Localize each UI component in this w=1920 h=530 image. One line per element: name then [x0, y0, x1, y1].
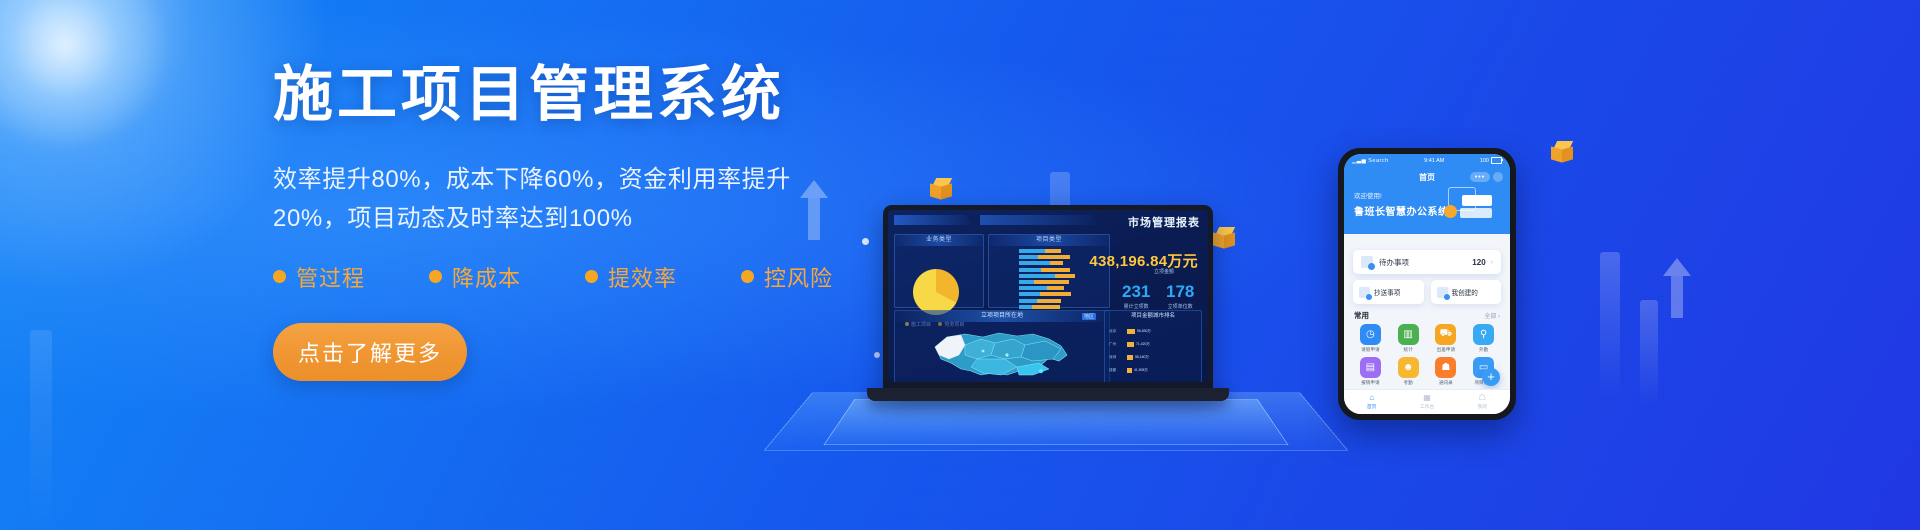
- travel-request-icon: ⛟: [1435, 324, 1456, 345]
- page-title: 施工项目管理系统: [273, 62, 893, 129]
- app-header-title: 首页: [1419, 172, 1435, 183]
- feature-bullet: 控风险: [741, 261, 833, 293]
- kpi-caption: 累计立项数: [1122, 303, 1150, 310]
- total-amount-value: 438,196.84万元: [1089, 250, 1198, 271]
- quick-card-cc[interactable]: 抄送事项: [1353, 280, 1424, 304]
- created-icon: [1437, 287, 1448, 298]
- status-time: 9:41 AM: [1424, 158, 1444, 164]
- bullet-label: 控风险: [764, 261, 833, 293]
- banner-subtitle: 效率提升80%，成本下降60%，资金利用率提升20%，项目动态及时率达到100%: [273, 161, 793, 239]
- quick-card-label: 我创建的: [1452, 287, 1478, 297]
- corner-glow: [0, 0, 170, 145]
- app-label: 报销申请: [1361, 380, 1379, 386]
- app-label: 考勤: [1404, 380, 1413, 386]
- decor-arrow-up: [1663, 258, 1691, 318]
- bullet-dot-icon: [741, 270, 754, 283]
- bullet-label: 降成本: [452, 261, 521, 293]
- laptop-mockup: 市场管理报表 业务类型 施工项目 劳务项目 项目类型: [883, 205, 1213, 390]
- workbench-icon: ▦: [1423, 394, 1431, 402]
- app-tile[interactable]: ☗ 通讯录: [1429, 357, 1464, 386]
- china-map: [921, 325, 1081, 381]
- rank-value: 96,830万: [1137, 329, 1151, 334]
- attendance-icon: ☻: [1398, 357, 1419, 378]
- quick-cards: 抄送事项 我创建的: [1353, 280, 1501, 304]
- app-tile[interactable]: ⛟ 出差申请: [1429, 324, 1464, 353]
- rank-label: 成都: [1109, 368, 1125, 373]
- banner-copy: 施工项目管理系统 效率提升80%，成本下降60%，资金利用率提升20%，项目动态…: [273, 62, 893, 381]
- dashboard-title: 市场管理报表: [1128, 214, 1200, 230]
- laptop-screen: 市场管理报表 业务类型 施工项目 劳务项目 项目类型: [883, 205, 1213, 390]
- rank-value: 71,420万: [1136, 342, 1150, 347]
- total-amount-caption: 立项金额: [1154, 268, 1174, 275]
- bullet-dot-icon: [429, 270, 442, 283]
- panel-title: 项目金额城市排名: [1105, 311, 1201, 322]
- kpi-projects: 231 累计立项数: [1122, 282, 1150, 310]
- bullet-label: 提效率: [608, 261, 677, 293]
- field-work-icon: ⚲: [1473, 324, 1494, 345]
- panel-title: 业务类型: [895, 235, 983, 246]
- app-grid: ◷ 请假申请 ▥ 统计 ⛟ 出差申请 ⚲ 外勤 ▤ 报销申请: [1353, 324, 1501, 386]
- bullet-dot-icon: [585, 270, 598, 283]
- header-accent-left: [894, 215, 972, 225]
- panel-business-type: 业务类型 施工项目 劳务项目: [894, 234, 984, 308]
- frequent-section-header: 常用 全部 ›: [1354, 310, 1500, 321]
- promo-banner: 施工项目管理系统 效率提升80%，成本下降60%，资金利用率提升20%，项目动态…: [0, 0, 1920, 530]
- pie-chart: [913, 269, 959, 315]
- app-tile[interactable]: ☻ 考勤: [1391, 357, 1426, 386]
- panel-project-map: 立项项目所在地: [894, 310, 1110, 382]
- bullet-dot-icon: [273, 270, 286, 283]
- rank-row: 深圳 58,160万: [1109, 355, 1197, 360]
- quick-card-label: 抄送事项: [1374, 287, 1400, 297]
- nav-item-home[interactable]: ⌂ 首页: [1344, 390, 1399, 414]
- app-tile[interactable]: ▤ 报销申请: [1353, 357, 1388, 386]
- laptop-base: [867, 388, 1229, 401]
- panel-project-type: 项目类型: [988, 234, 1110, 308]
- panel-title: 项目类型: [989, 235, 1109, 246]
- todo-count: 120: [1472, 258, 1485, 267]
- hero-illustration: [1446, 185, 1502, 223]
- kpi-units: 178 立项单位数: [1166, 282, 1194, 310]
- leave-request-icon: ◷: [1360, 324, 1381, 345]
- feature-bullet: 降成本: [429, 261, 521, 293]
- feature-bullets: 管过程 降成本 提效率 控风险: [273, 261, 893, 293]
- app-label: 外勤: [1479, 347, 1488, 353]
- battery-percent: 100: [1480, 158, 1489, 164]
- app-label: 通讯录: [1439, 380, 1453, 386]
- add-button[interactable]: +: [1482, 368, 1500, 386]
- kpi-caption: 立项单位数: [1166, 303, 1194, 310]
- header-actions: •••: [1470, 172, 1503, 182]
- nav-label: 我的: [1478, 403, 1488, 410]
- decor-bar: [1600, 252, 1620, 397]
- decor-bar: [30, 330, 52, 530]
- statistics-icon: ▥: [1398, 324, 1419, 345]
- phone-mockup: ▁▃▅ Search 9:41 AM 100 首页 ••• 欢迎使用!: [1338, 148, 1516, 420]
- app-label: 出差申请: [1437, 347, 1455, 353]
- rank-row: 广州 71,420万: [1109, 342, 1197, 347]
- view-all-link[interactable]: 全部 ›: [1484, 311, 1500, 320]
- contacts-icon: ☗: [1435, 357, 1456, 378]
- phone-status-bar: ▁▃▅ Search 9:41 AM 100: [1344, 154, 1510, 167]
- app-label: 请假申请: [1361, 347, 1379, 353]
- rank-label: 北京: [1109, 329, 1125, 334]
- feature-bullet: 管过程: [273, 261, 365, 293]
- rank-label: 深圳: [1109, 355, 1125, 360]
- more-icon[interactable]: •••: [1470, 172, 1490, 182]
- todo-icon: [1361, 256, 1373, 268]
- phone-app-header: 首页 •••: [1344, 167, 1510, 187]
- phone-screen: ▁▃▅ Search 9:41 AM 100 首页 ••• 欢迎使用!: [1344, 154, 1510, 414]
- nav-label: 首页: [1367, 403, 1377, 410]
- dashboard-header: 市场管理报表: [888, 210, 1208, 232]
- rank-label: 广州: [1109, 342, 1125, 347]
- signal-icon: ▁▃▅ Search: [1352, 158, 1389, 164]
- rank-value: 58,160万: [1135, 355, 1149, 360]
- device-platform-top: [823, 399, 1288, 445]
- todo-card[interactable]: 待办事项 120 ›: [1353, 250, 1501, 274]
- bullet-label: 管过程: [296, 261, 365, 293]
- kpi-value: 231: [1122, 282, 1150, 302]
- nav-label: 工作台: [1420, 403, 1434, 410]
- feature-bullet: 提效率: [585, 261, 677, 293]
- reimbursement-icon: ▤: [1360, 357, 1381, 378]
- section-title: 常用: [1354, 310, 1369, 321]
- kpi-value: 178: [1166, 282, 1194, 302]
- quick-card-created[interactable]: 我创建的: [1431, 280, 1502, 304]
- todo-label: 待办事项: [1379, 257, 1472, 268]
- rank-row: 成都 41,905万: [1109, 368, 1197, 373]
- panel-title: 立项项目所在地: [895, 311, 1109, 322]
- panel-city-ranking: 项目金额城市排名 北京 96,830万 广州 71,420万 深圳: [1104, 310, 1202, 382]
- app-label: 统计: [1404, 347, 1413, 353]
- learn-more-button[interactable]: 点击了解更多: [273, 323, 467, 381]
- nav-item-profile[interactable]: ☖ 我的: [1455, 390, 1510, 414]
- map-tag: 地区: [1082, 313, 1096, 320]
- profile-icon: ☖: [1479, 394, 1486, 402]
- decor-bar: [1640, 300, 1658, 405]
- phone-hero: 欢迎使用! 鲁班长智慧办公系统: [1344, 187, 1510, 234]
- rank-value: 41,905万: [1134, 368, 1148, 373]
- close-icon[interactable]: [1493, 172, 1503, 182]
- header-accent-mid: [980, 215, 1098, 225]
- phone-bottom-nav: ⌂ 首页 ▦ 工作台 ☖ 我的: [1344, 389, 1510, 414]
- app-tile[interactable]: ⚲ 外勤: [1466, 324, 1501, 353]
- rank-row: 北京 96,830万: [1109, 329, 1197, 334]
- app-tile[interactable]: ▥ 统计: [1391, 324, 1426, 353]
- app-tile[interactable]: ◷ 请假申请: [1353, 324, 1388, 353]
- home-icon: ⌂: [1369, 394, 1374, 402]
- dashboard: 市场管理报表 业务类型 施工项目 劳务项目 项目类型: [888, 210, 1208, 382]
- cc-icon: [1359, 287, 1370, 298]
- battery-icon: [1491, 157, 1502, 164]
- nav-item-workbench[interactable]: ▦ 工作台: [1399, 390, 1454, 414]
- chevron-right-icon: ›: [1491, 259, 1493, 266]
